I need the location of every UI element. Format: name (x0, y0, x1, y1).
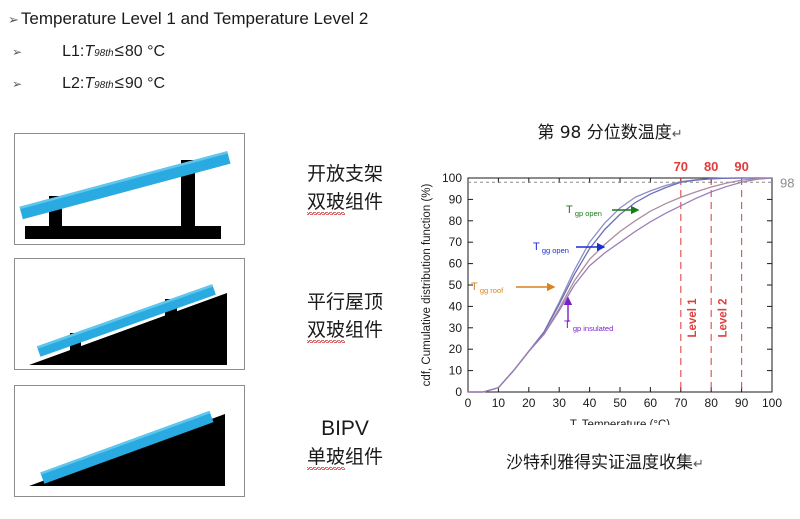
parallel-roof-diagram-icon (15, 259, 244, 369)
level-top-label-90: 90 (734, 159, 748, 174)
y-axis-label: cdf, Cumulative distribution function (%… (421, 184, 433, 387)
reference-label-98: 98 (780, 175, 794, 190)
chart-caption: 沙特利雅得实证温度收集↵ (455, 448, 755, 473)
bullet-l1-operator: ≤ (114, 38, 125, 63)
bullet-marker-icon: ➢ (12, 72, 22, 97)
y-tick-label: 50 (449, 278, 463, 292)
level-top-label-80: 80 (704, 159, 718, 174)
chart-caption-text: 沙特利雅得实证温度收集 (506, 453, 693, 473)
misspelled-text: 单玻 (307, 446, 345, 470)
chart-title-text: 第 98 分位数温度 (537, 123, 671, 143)
bullet-item-l2: ➢ L2: T98th ≤ 90 °C (8, 70, 478, 98)
level-top-label-70: 70 (674, 159, 688, 174)
y-tick-label: 10 (449, 364, 463, 378)
bullet-title-text: Temperature Level 1 and Temperature Leve… (21, 6, 368, 32)
y-tick-label: 20 (449, 342, 463, 356)
bullet-list: ➢ Temperature Level 1 and Temperature Le… (8, 6, 478, 102)
chart-title: 第 98 分位数温度↵ (470, 118, 750, 143)
x-tick-label: 60 (644, 396, 658, 410)
illustration-bipv (14, 385, 245, 497)
bullet-l2-subscript: 98th (94, 73, 113, 98)
cdf-chart: 0102030405060708090100010203040506070809… (416, 150, 800, 425)
x-tick-label: 90 (735, 396, 749, 410)
illustration-open-rack (14, 133, 245, 245)
y-tick-label: 40 (449, 299, 463, 313)
x-tick-label: 40 (583, 396, 597, 410)
misspelled-text: 双玻 (307, 191, 345, 215)
x-tick-label: 10 (492, 396, 506, 410)
cdf-chart-svg: 0102030405060708090100010203040506070809… (416, 150, 800, 425)
bullet-l1-prefix: L1: (62, 39, 84, 64)
band-label-1: Level 1 (687, 298, 699, 338)
bullet-l2-unit: °C (147, 71, 165, 96)
x-tick-label: 20 (522, 396, 536, 410)
caption-open-rack-line1: 开放支架 (275, 160, 415, 188)
bullet-l2-symbol: T (84, 71, 94, 96)
y-tick-label: 70 (449, 235, 463, 249)
caption-open-rack: 开放支架 双玻组件 (275, 160, 415, 216)
illustration-parallel-roof (14, 258, 245, 370)
paragraph-mark-icon: ↵ (693, 457, 704, 472)
bullet-item-l1: ➢ L1: T98th ≤ 80 °C (8, 38, 478, 66)
y-tick-label: 100 (442, 171, 462, 185)
paragraph-mark-icon: ↵ (672, 127, 683, 142)
caption-parallel-roof: 平行屋顶 双玻组件 (275, 288, 415, 344)
bullet-l2-operator: ≤ (114, 70, 125, 95)
caption-parallel-roof-line1: 平行屋顶 (275, 288, 415, 316)
x-tick-label: 100 (762, 396, 782, 410)
bullet-l2-prefix: L2: (62, 71, 84, 96)
caption-open-rack-line2: 双玻组件 (275, 188, 415, 216)
misspelled-text: 双玻 (307, 319, 345, 343)
x-tick-label: 0 (465, 396, 472, 410)
bullet-l1-subscript: 98th (94, 41, 113, 66)
x-axis-label: T, Temperature (°C) (570, 419, 670, 425)
bullet-marker-icon: ➢ (8, 7, 19, 33)
x-tick-label: 30 (553, 396, 567, 410)
caption-bipv-line2: 单玻组件 (275, 443, 415, 471)
open-rack-diagram-icon (15, 134, 244, 244)
caption-bipv-line1: BIPV (275, 415, 415, 443)
y-tick-label: 90 (449, 192, 463, 206)
bullet-marker-icon: ➢ (12, 40, 22, 65)
y-tick-label: 0 (455, 385, 462, 399)
bipv-diagram-icon (15, 386, 244, 496)
bullet-l1-value: 80 (125, 39, 143, 64)
y-tick-label: 30 (449, 321, 463, 335)
bullet-item-title: ➢ Temperature Level 1 and Temperature Le… (8, 6, 478, 33)
band-label-2: Level 2 (717, 299, 729, 338)
caption-bipv: BIPV 单玻组件 (275, 415, 415, 471)
bullet-l1-symbol: T (84, 39, 94, 64)
bullet-l2-value: 90 (125, 71, 143, 96)
caption-parallel-roof-line2: 双玻组件 (275, 316, 415, 344)
x-tick-label: 50 (613, 396, 627, 410)
bullet-l1-unit: °C (147, 39, 165, 64)
x-tick-label: 80 (705, 396, 719, 410)
y-tick-label: 80 (449, 214, 463, 228)
x-tick-label: 70 (674, 396, 688, 410)
y-tick-label: 60 (449, 257, 463, 271)
